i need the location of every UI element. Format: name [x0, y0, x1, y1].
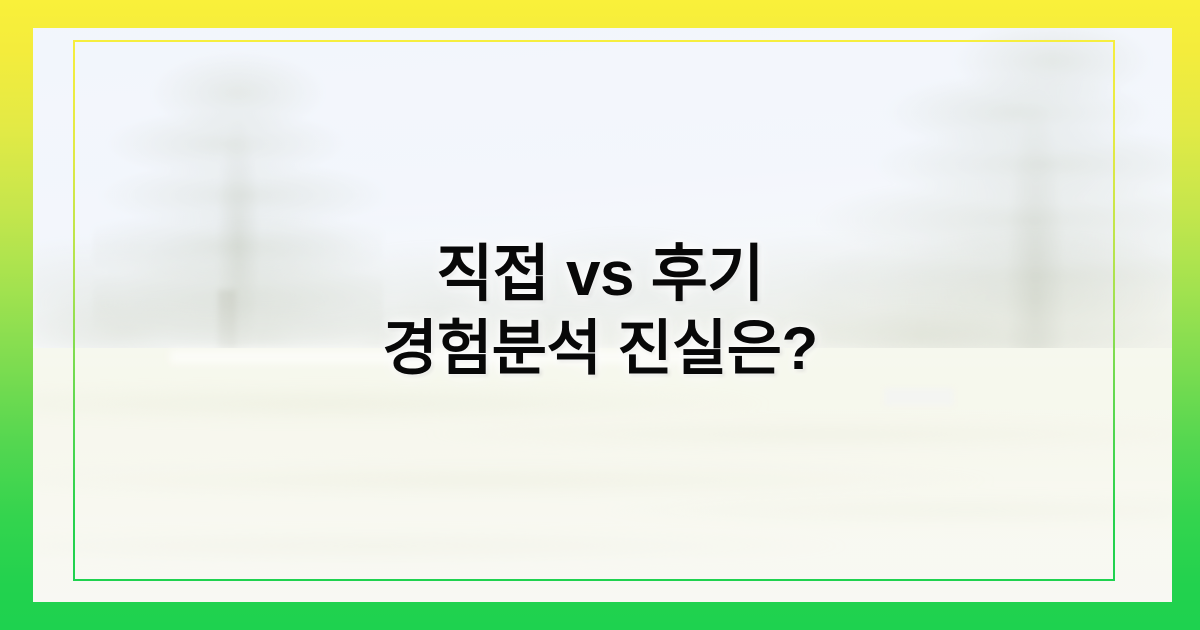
bleach-overlay	[33, 28, 1172, 602]
background-photo	[33, 28, 1172, 602]
thumbnail-canvas: 직접 vs 후기 경험분석 진실은?	[0, 0, 1200, 630]
